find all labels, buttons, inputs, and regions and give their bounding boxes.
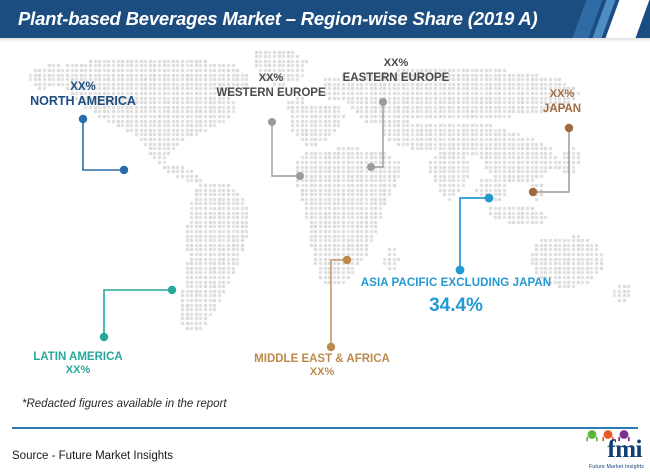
fmi-logo: fmi Future Market Insights [558,428,644,470]
region-label-north-america: XX% NORTH AMERICA [0,80,166,110]
region-percent-north-america: XX% [0,80,166,94]
region-label-japan: XX% JAPAN [512,88,612,116]
region-percent-japan: XX% [512,88,612,102]
connector-asia-pacific [456,194,494,275]
redacted-footnote: *Redacted figures available in the repor… [22,398,227,410]
region-name-middle-east-africa: MIDDLE EAST & AFRICA [222,352,422,366]
region-label-eastern-europe: XX% EASTERN EUROPE [320,57,472,85]
region-name-western-europe: WESTERN EUROPE [196,86,346,100]
region-label-asia-pacific: ASIA PACIFIC EXCLUDING JAPAN 34.4% [340,276,572,318]
svg-text:fmi: fmi [607,436,642,463]
region-name-eastern-europe: EASTERN EUROPE [320,71,472,85]
region-percent-asia-pacific: 34.4% [340,294,572,318]
region-label-latin-america: LATIN AMERICA XX% [0,350,156,378]
region-percent-middle-east-africa: XX% [222,366,422,380]
connector-eastern-europe [367,98,387,171]
connector-western-europe [268,118,304,180]
connector-north-america [79,115,128,174]
region-percent-latin-america: XX% [0,364,156,378]
logo-tagline: Future Market Insights [558,464,644,470]
source-text: Source - Future Market Insights [12,450,173,462]
region-name-north-america: NORTH AMERICA [0,94,166,110]
region-name-japan: JAPAN [512,102,612,116]
footer-divider [12,427,638,429]
connector-latin-america [100,286,176,341]
fmi-logo-mark: fmi [558,428,644,464]
region-percent-eastern-europe: XX% [320,57,472,71]
connector-japan [529,124,573,196]
region-name-asia-pacific: ASIA PACIFIC EXCLUDING JAPAN [340,276,572,290]
region-label-middle-east-africa: MIDDLE EAST & AFRICA XX% [222,352,422,380]
logo-figure-green [587,430,597,440]
region-name-latin-america: LATIN AMERICA [0,350,156,364]
